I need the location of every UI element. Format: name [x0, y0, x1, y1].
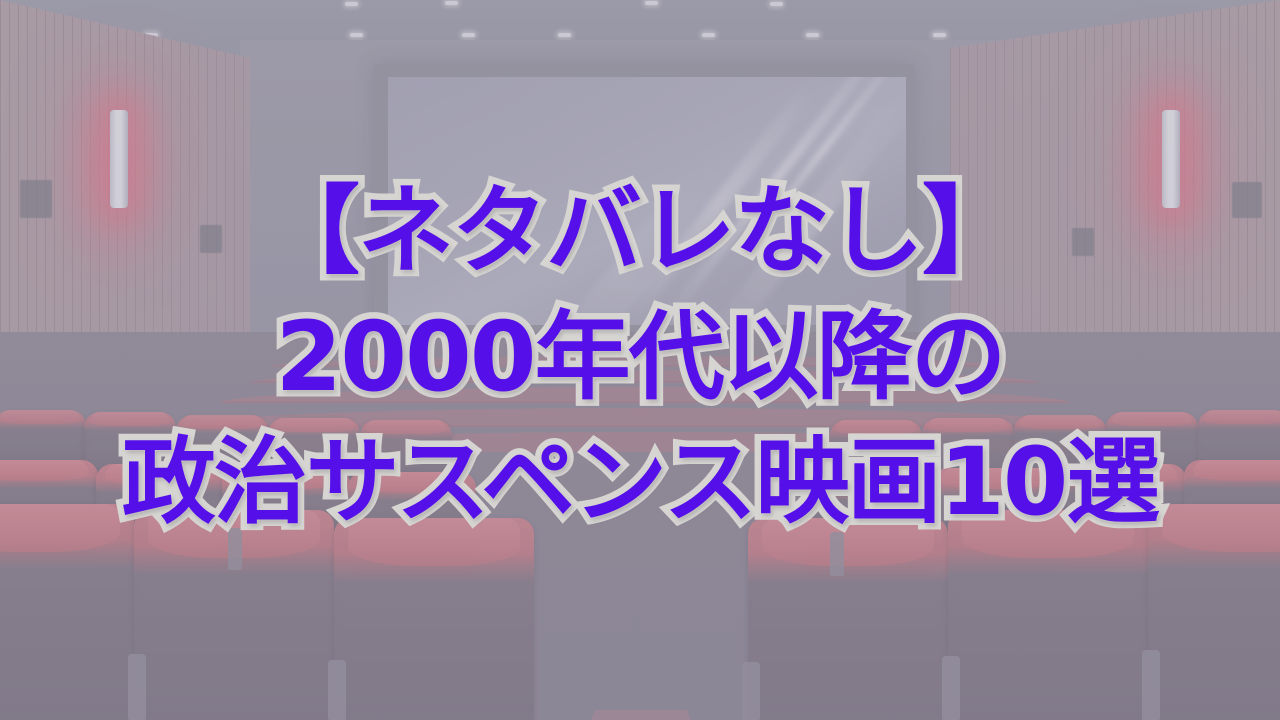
theater-seat — [748, 518, 948, 720]
title-line-2: 2000年代以降の — [0, 294, 1280, 420]
ceiling-spotlight-icon — [462, 33, 475, 37]
ceiling-spotlight-icon — [445, 1, 458, 5]
ceiling-spotlight-icon — [806, 33, 819, 37]
seat-armrest — [128, 654, 146, 720]
title-line-1: 【ネタバレなし】 — [0, 168, 1280, 294]
ceiling-spotlight-icon — [558, 33, 571, 37]
theater-seat — [334, 518, 534, 720]
ceiling-spotlight-icon — [933, 33, 946, 37]
ceiling-spotlight-icon — [702, 33, 715, 37]
thumbnail-canvas: 【ネタバレなし】 2000年代以降の 政治サスペンス映画10選 — [0, 0, 1280, 720]
seat-armrest — [1142, 650, 1160, 720]
ceiling-spotlight-icon — [770, 2, 783, 6]
ceiling-spotlight-icon — [645, 1, 658, 5]
ceiling-spotlight-icon — [345, 2, 358, 6]
title-line-3: 政治サスペンス映画10選 — [0, 420, 1280, 546]
title-block: 【ネタバレなし】 2000年代以降の 政治サスペンス映画10選 — [0, 168, 1280, 546]
seat-armrest — [742, 662, 760, 720]
seat-armrest — [942, 656, 960, 720]
seat-armrest — [328, 660, 346, 720]
ceiling-spotlight-icon — [350, 33, 363, 37]
